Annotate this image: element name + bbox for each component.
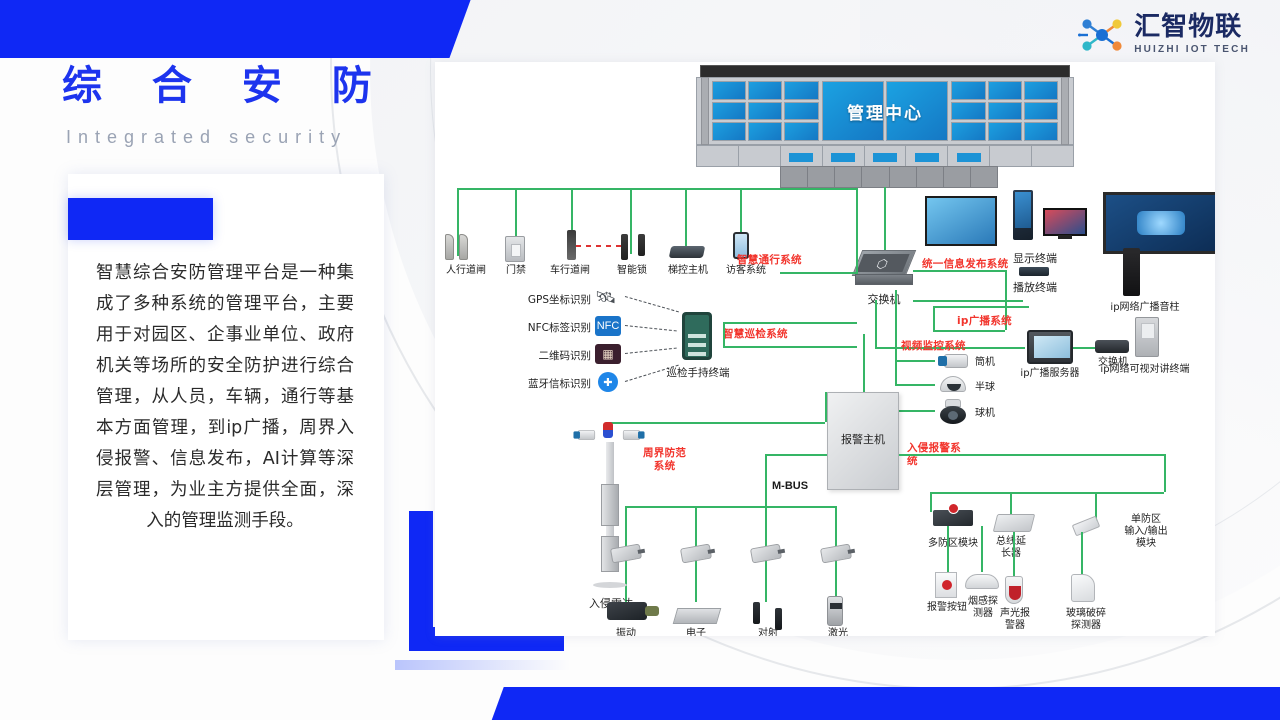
play-terminal-icon [1019,267,1049,276]
device-access-controller-icon [505,236,525,262]
video-wall-center: 管理中心 [822,81,948,141]
display-terminal-label: 显示终端 [995,253,1075,265]
operator-desk [780,166,998,188]
camera-ptz-icon [940,399,966,425]
device-vehicle-barrier-icon [567,230,576,260]
intrusion-radar-icon [591,428,629,588]
alarm-device-label: 玻璃破碎 探测器 [1051,608,1121,632]
perimeter-sensor-icon-4 [820,544,852,564]
beam-detector-icon-a [753,602,760,624]
brand-logo: 汇智物联 HUIZHI IOT TECH [1078,14,1250,55]
perimeter-sensor-icon-3 [750,544,782,564]
pole-camera-right-icon [621,430,644,440]
logo-name-en: HUIZHI IOT TECH [1134,44,1250,55]
management-center: 管理中心 [690,65,1080,175]
single-zone-io-module-icon [1072,516,1101,537]
display-tv-icon [1043,208,1087,236]
camera-ptz-label: 球机 [975,408,1015,420]
pole-alarm-light-icon [603,422,613,438]
access-device-label: 梯控主机 [659,265,717,277]
laser-scanner-icon [827,596,843,626]
alarm-module-label: 总线延 长器 [983,536,1039,560]
logo-network-icon [1078,15,1126,55]
multi-zone-module-icon [933,510,973,526]
ip-broadcast-server-icon [1027,330,1073,364]
ip-intercom-terminal-icon [1135,317,1159,357]
alarm-module-label: 多防区模块 [915,538,991,550]
perimeter-device-label: 对射 产品 [741,628,795,636]
ip-intercom-terminal-label: ip网络可视对讲终端 [1075,364,1215,376]
alarm-module-label: 单防区 输入/输出 模块 [1111,514,1181,550]
device-smart-lock-icon-2 [638,234,645,256]
play-terminal-label: 播放终端 [995,282,1075,294]
vibration-fiber-icon [607,602,647,620]
ip-broadcast-switch-icon [1095,340,1129,353]
pole-camera-left-icon [573,430,596,440]
device-pedestrian-gate-icon [445,234,471,264]
logo-name-cn: 汇智物联 [1134,14,1250,40]
ip-speaker-column-icon [1123,248,1140,296]
display-led-screen-icon [1103,192,1215,254]
system-label-video: 视频监控系统 [901,340,966,353]
camera-bullet-label: 筒机 [975,357,1015,369]
glass-break-detector-icon [1071,574,1095,602]
architecture-diagram: 管理中心 ⬡ 交换机 [435,62,1215,636]
access-device-label: 车行道闸 [539,265,601,277]
display-video-wall-icon [925,196,997,246]
alarm-host-label: 报警主机 [827,434,899,446]
bus-extender-icon [993,514,1035,532]
page-title-cn: 综 合 安 防 [62,66,390,106]
patrol-input-label: GPS坐标识别 [505,294,591,306]
satellite-icon: 🛰 [595,288,617,308]
system-label-access: 智慧通行系统 [737,254,802,267]
perimeter-device-label: 电子 围栏 [669,628,723,636]
device-smart-lock-icon [621,234,628,260]
page-title-en: Integrated security [66,128,347,146]
bottom-accent-glow [395,660,570,670]
alarm-button-icon [935,572,957,598]
card-accent-tag [68,198,213,240]
bluetooth-icon: ✚ [598,372,618,392]
slide-root: 汇智物联 HUIZHI IOT TECH 综 合 安 防 Integrated … [0,0,1280,720]
description-text: 智慧综合安防管理平台是一种集成了多种系统的管理平台，主要用于对园区、企事业单位、… [96,258,354,537]
video-wall-right [951,81,1058,141]
ip-speaker-column-label: ip网络广播音柱 [1085,302,1205,314]
device-elevator-controller-icon [669,246,706,258]
alarm-device-label: 声光报 警器 [987,608,1043,632]
bus-label: M-BUS [772,480,808,492]
system-label-perimeter: 周界防范 系统 [643,447,686,473]
camera-dome-label: 半球 [975,382,1015,394]
beam-detector-icon-b [775,608,782,630]
perimeter-sensor-icon-2 [680,544,712,564]
access-device-label: 门禁 [493,265,539,277]
camera-dome-icon [940,376,966,392]
patrol-terminal-label: 巡检手持终端 [653,367,743,379]
access-device-label: 智能锁 [603,265,661,277]
smoke-detector-icon [965,574,999,589]
video-wall-left [712,81,819,141]
patrol-input-label: 蓝牙信标识别 [497,378,591,390]
footer-accent-shape [486,687,1280,720]
access-device-label: 人行道闸 [435,265,497,277]
display-kiosk-icon [1013,190,1033,240]
core-switch-icon: ⬡ [853,250,915,290]
patrol-input-label: NFC标签识别 [505,322,591,334]
perimeter-device-label: 振动 光纤 [597,628,655,636]
electric-fence-icon [673,608,722,624]
camera-bullet-icon [938,354,970,368]
patrol-input-label: 二维码识别 [505,350,591,362]
nfc-icon: NFC [595,316,621,336]
perimeter-device-label: 激光 扫描 [811,628,865,636]
qrcode-icon: ▦ [595,344,621,364]
patrol-handheld-icon [682,312,712,360]
management-center-title: 管理中心 [822,81,948,141]
sound-light-siren-icon [1005,576,1023,604]
system-label-ip-broadcast: ip广播系统 [957,315,1012,328]
header-accent-shape [0,0,471,58]
system-label-patrol: 智慧巡检系统 [723,328,788,341]
